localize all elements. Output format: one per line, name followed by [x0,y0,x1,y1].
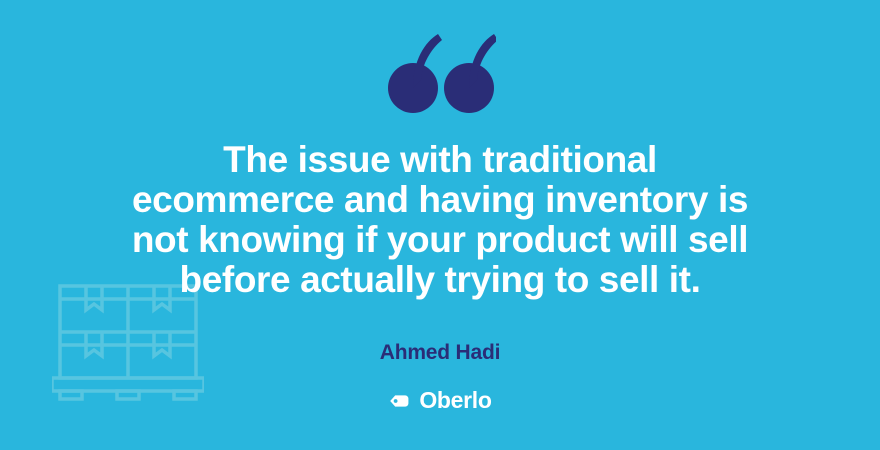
quote-line-4: before actually trying to sell it. [90,260,790,300]
oberlo-tag-icon [388,390,410,412]
double-opening-quotation-mark-icon [388,30,496,120]
brand-lockup: Oberlo [0,389,880,412]
quote-card: The issue with traditional ecommerce and… [0,0,880,450]
brand-name: Oberlo [419,389,491,412]
quote-line-2: ecommerce and having inventory is [90,180,790,220]
quote-line-1: The issue with traditional [90,140,790,180]
quote-text: The issue with traditional ecommerce and… [0,140,880,300]
quote-line-3: not knowing if your product will sell [90,220,790,260]
author-name: Ahmed Hadi [0,341,880,365]
